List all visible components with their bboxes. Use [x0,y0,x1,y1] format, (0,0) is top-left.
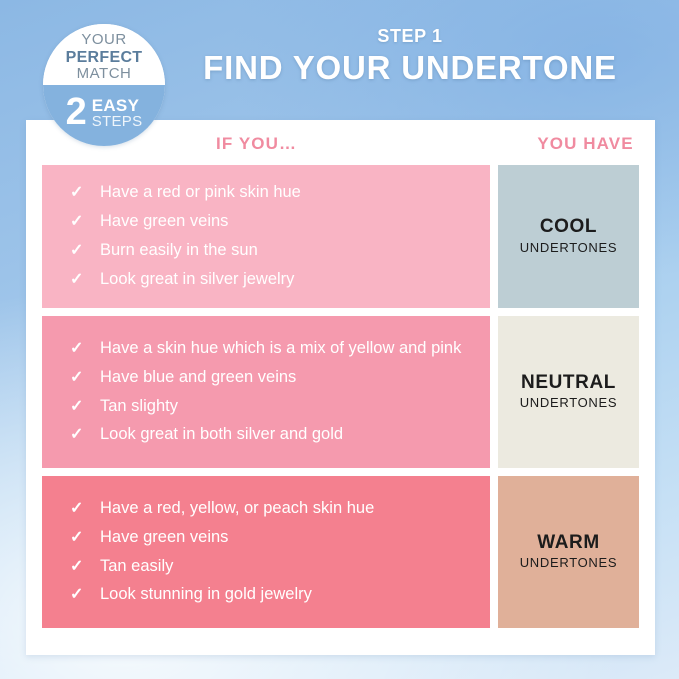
check-icon: ✓ [70,556,100,577]
trait-text: Burn easily in the sun [100,240,476,262]
badge-line-perfect: PERFECT [66,49,143,67]
column-header-you-have: YOU HAVE [518,134,653,154]
check-icon: ✓ [70,498,100,519]
traits-list-cool: ✓ Have a red or pink skin hue ✓ Have gre… [42,165,490,308]
check-icon: ✓ [70,527,100,548]
traits-list-neutral: ✓ Have a skin hue which is a mix of yell… [42,316,490,468]
check-icon: ✓ [70,182,100,203]
column-header-if-you: IF YOU… [216,134,297,154]
trait-item: ✓ Have blue and green veins [70,363,476,392]
badge-top-half: YOUR PERFECT MATCH [43,24,165,85]
trait-item: ✓ Have a red, yellow, or peach skin hue [70,494,476,523]
perfect-match-badge: YOUR PERFECT MATCH 2 EASY STEPS [43,24,165,146]
trait-text: Have green veins [100,211,476,233]
swatch-warm: WARM UNDERTONES [498,476,639,628]
swatch-subtitle: UNDERTONES [520,240,618,257]
trait-item: ✓ Tan easily [70,552,476,581]
swatch-subtitle: UNDERTONES [520,395,618,412]
check-icon: ✓ [70,584,100,605]
swatch-name: NEUTRAL [521,372,616,395]
check-icon: ✓ [70,367,100,388]
swatch-name: WARM [537,532,600,555]
badge-line-your: YOUR [81,32,126,49]
trait-item: ✓ Look great in both silver and gold [70,421,476,450]
page-title: FIND YOUR UNDERTONE [170,49,650,87]
undertone-row-neutral: ✓ Have a skin hue which is a mix of yell… [42,316,639,468]
trait-item: ✓ Burn easily in the sun [70,237,476,266]
trait-text: Have a skin hue which is a mix of yellow… [100,338,476,360]
step-label: STEP 1 [170,26,650,47]
badge-steps-stack: EASY STEPS [92,97,143,129]
trait-text: Have blue and green veins [100,367,476,389]
trait-text: Tan slighty [100,396,476,418]
trait-item: ✓ Look stunning in gold jewelry [70,581,476,610]
trait-item: ✓ Tan slighty [70,392,476,421]
trait-item: ✓ Have a skin hue which is a mix of yell… [70,334,476,363]
badge-bottom-half: 2 EASY STEPS [43,85,165,146]
trait-item: ✓ Have green veins [70,523,476,552]
swatch-subtitle: UNDERTONES [520,555,618,572]
swatch-name: COOL [540,216,597,239]
badge-line-match: MATCH [77,66,132,83]
trait-text: Look great in both silver and gold [100,424,476,446]
trait-item: ✓ Look great in silver jewelry [70,265,476,294]
traits-list-warm: ✓ Have a red, yellow, or peach skin hue … [42,476,490,628]
trait-text: Look stunning in gold jewelry [100,584,476,606]
check-icon: ✓ [70,424,100,445]
content-panel: IF YOU… YOU HAVE ✓ Have a red or pink sk… [26,120,655,655]
badge-label-easy: EASY [92,97,143,114]
check-icon: ✓ [70,269,100,290]
check-icon: ✓ [70,240,100,261]
badge-step-count: 2 [66,95,87,129]
trait-text: Have a red or pink skin hue [100,182,476,204]
undertone-row-warm: ✓ Have a red, yellow, or peach skin hue … [42,476,639,628]
trait-text: Have green veins [100,527,476,549]
trait-text: Have a red, yellow, or peach skin hue [100,498,476,520]
trait-item: ✓ Have green veins [70,208,476,237]
undertone-row-cool: ✓ Have a red or pink skin hue ✓ Have gre… [42,165,639,308]
trait-text: Look great in silver jewelry [100,269,476,291]
swatch-neutral: NEUTRAL UNDERTONES [498,316,639,468]
check-icon: ✓ [70,211,100,232]
trait-text: Tan easily [100,556,476,578]
badge-label-steps: STEPS [92,114,143,129]
page-header: STEP 1 FIND YOUR UNDERTONE [170,26,650,87]
trait-item: ✓ Have a red or pink skin hue [70,179,476,208]
check-icon: ✓ [70,396,100,417]
swatch-cool: COOL UNDERTONES [498,165,639,308]
check-icon: ✓ [70,338,100,359]
